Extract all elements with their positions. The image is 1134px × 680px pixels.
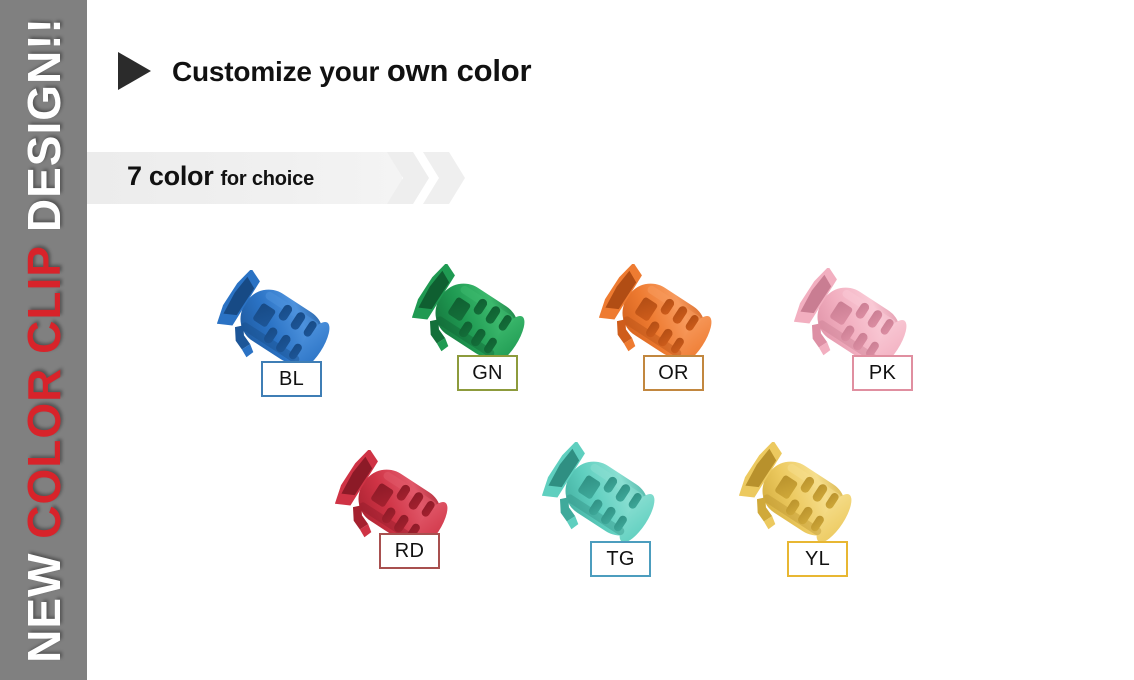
clip-item-pk[interactable]: PK xyxy=(794,268,1009,438)
header-region: Customize your own color xyxy=(87,0,1134,150)
chevron-right-icon-2 xyxy=(423,152,465,204)
clip-item-or[interactable]: OR xyxy=(599,264,814,434)
play-triangle-icon xyxy=(118,52,151,90)
clip-label-pk[interactable]: PK xyxy=(852,355,913,391)
slide-canvas: NEW COLOR CLIP DESIGN!! Customize your o… xyxy=(0,0,1134,680)
page-title-part-b: own color xyxy=(387,53,532,88)
sidebar-banner: NEW COLOR CLIP DESIGN!! xyxy=(0,0,87,680)
clip-label-yl[interactable]: YL xyxy=(787,541,848,577)
clip-item-yl[interactable]: YL xyxy=(739,442,954,612)
sidebar-title-colorclip: COLOR CLIP xyxy=(18,246,70,539)
clip-item-rd[interactable]: RD xyxy=(335,450,550,620)
sidebar-title: NEW COLOR CLIP DESIGN!! xyxy=(21,17,67,663)
clip-item-gn[interactable]: GN xyxy=(412,264,627,434)
banner-count: 7 color xyxy=(127,161,213,191)
clip-label-bl[interactable]: BL xyxy=(261,361,322,397)
banner-suffix: for choice xyxy=(220,168,314,190)
color-clip-grid: BL xyxy=(87,210,1134,680)
color-count-banner: 7 colorfor choice xyxy=(87,152,467,204)
clip-item-tg[interactable]: TG xyxy=(542,442,757,612)
clip-label-or[interactable]: OR xyxy=(643,355,704,391)
clip-label-tg[interactable]: TG xyxy=(590,541,651,577)
page-title: Customize your own color xyxy=(172,53,531,89)
clip-label-rd[interactable]: RD xyxy=(379,533,440,569)
banner-text: 7 colorfor choice xyxy=(127,161,314,192)
clip-label-gn[interactable]: GN xyxy=(457,355,518,391)
sidebar-title-new: NEW xyxy=(18,539,70,663)
sidebar-title-design: DESIGN!! xyxy=(18,17,70,246)
page-title-part-a: Customize your xyxy=(172,56,387,87)
clip-item-bl[interactable]: BL xyxy=(217,270,432,440)
